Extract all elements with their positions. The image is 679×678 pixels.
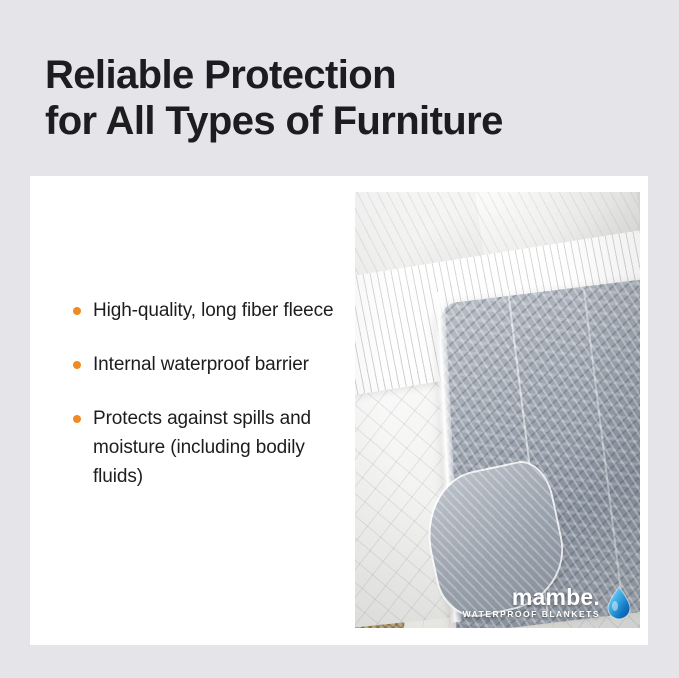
product-photo: mambe. WATERPROOF BLANKETS	[355, 192, 640, 628]
feature-list: High-quality, long fiber fleece Internal…	[73, 296, 343, 491]
bullet-dot-icon	[73, 415, 81, 423]
feature-text: High-quality, long fiber fleece	[93, 300, 334, 321]
content-card: High-quality, long fiber fleece Internal…	[30, 176, 648, 645]
list-item: Protects against spills and moisture (in…	[73, 404, 343, 491]
brand-tagline: WATERPROOF BLANKETS	[463, 608, 600, 620]
product-infographic: Reliable Protection for All Types of Fur…	[0, 0, 679, 678]
bullet-dot-icon	[73, 307, 81, 315]
brand-logo-text: mambe. WATERPROOF BLANKETS	[463, 586, 600, 620]
page-title: Reliable Protection for All Types of Fur…	[45, 52, 645, 144]
brand-logo: mambe. WATERPROOF BLANKETS	[463, 586, 632, 620]
bullet-dot-icon	[73, 361, 81, 369]
list-item: Internal waterproof barrier	[73, 350, 343, 379]
feature-text: Protects against spills and moisture (in…	[93, 408, 311, 487]
feature-text: Internal waterproof barrier	[93, 354, 309, 375]
brand-wordmark: mambe.	[463, 586, 600, 608]
list-item: High-quality, long fiber fleece	[73, 296, 343, 325]
water-droplet-icon	[606, 586, 632, 620]
